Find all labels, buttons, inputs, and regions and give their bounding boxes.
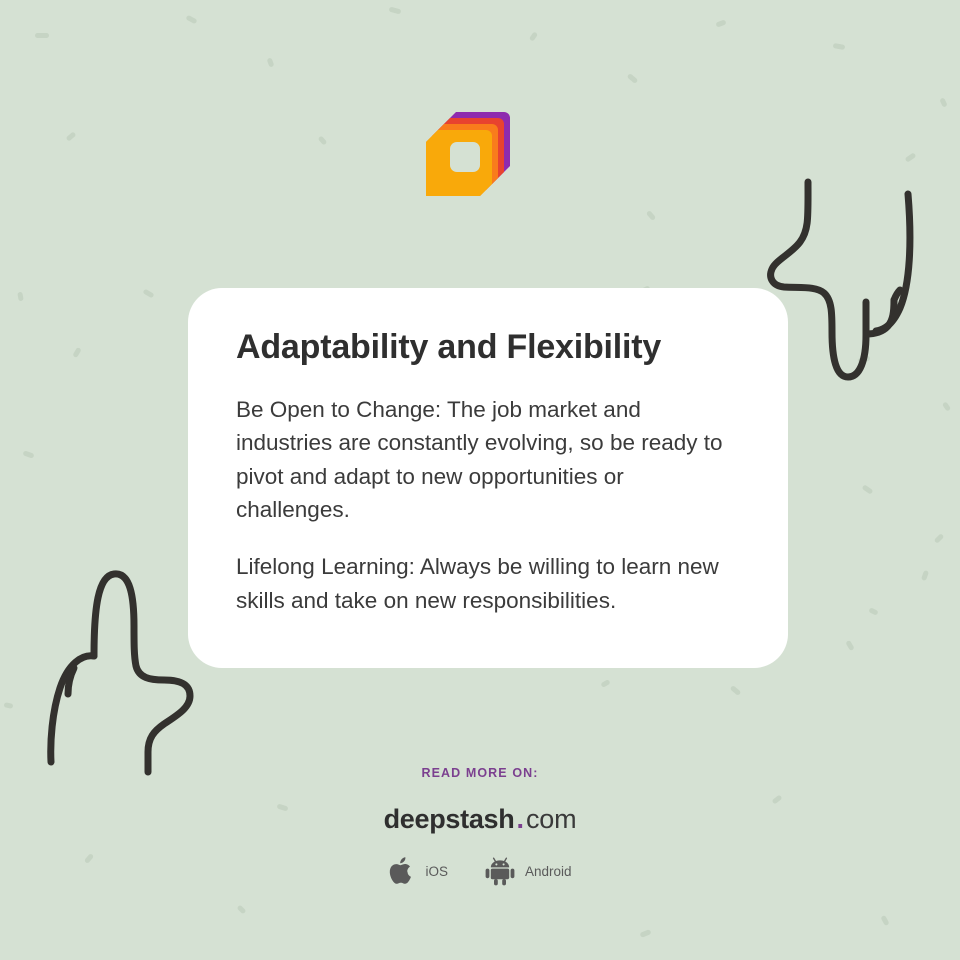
footer: READ MORE ON: deepstash.com iOS: [0, 766, 960, 887]
background-speck: [185, 15, 197, 25]
card-body: Be Open to Change: The job market and in…: [236, 393, 740, 617]
logo-inner-cutout: [450, 142, 480, 172]
android-label: Android: [525, 864, 572, 879]
card-paragraph-2: Lifelong Learning: Always be willing to …: [236, 550, 740, 617]
background-speck: [35, 33, 49, 38]
background-speck: [72, 347, 81, 358]
android-badge[interactable]: Android: [484, 855, 572, 887]
ios-label: iOS: [425, 864, 448, 879]
read-more-label: READ MORE ON:: [0, 766, 960, 780]
background-speck: [880, 915, 889, 926]
background-speck: [142, 289, 154, 299]
background-speck: [942, 401, 951, 411]
content-card: Adaptability and Flexibility Be Open to …: [188, 288, 788, 668]
background-speck: [905, 152, 917, 162]
background-speck: [318, 135, 328, 145]
background-speck: [868, 607, 878, 615]
background-speck: [4, 702, 14, 709]
background-speck: [529, 31, 538, 41]
brand-dot: .: [514, 804, 526, 834]
background-speck: [389, 7, 402, 15]
background-speck: [600, 679, 610, 688]
android-icon: [484, 855, 516, 887]
brand-wordmark[interactable]: deepstash.com: [0, 806, 960, 833]
background-speck: [921, 570, 929, 581]
background-speck: [22, 450, 34, 458]
background-speck: [627, 73, 639, 84]
background-speck: [858, 356, 871, 364]
background-speck: [934, 533, 945, 544]
poster-canvas: Adaptability and Flexibility Be Open to …: [0, 0, 960, 960]
card-paragraph-1: Be Open to Change: The job market and in…: [236, 393, 740, 526]
background-speck: [66, 131, 77, 141]
deepstash-cube-logo: [426, 100, 522, 196]
brand-tld: com: [526, 804, 576, 834]
page-title: Adaptability and Flexibility: [236, 328, 740, 367]
app-store-badges: iOS: [0, 855, 960, 887]
ios-badge[interactable]: iOS: [388, 855, 448, 887]
background-speck: [237, 905, 247, 915]
background-speck: [939, 97, 947, 107]
background-speck: [845, 640, 854, 651]
background-speck: [646, 210, 656, 221]
apple-icon: [388, 855, 416, 887]
background-speck: [17, 292, 23, 302]
brand-name: deepstash: [384, 804, 515, 834]
pointing-hand-illustration-left: [24, 556, 204, 776]
background-speck: [730, 685, 742, 696]
background-speck: [833, 43, 846, 50]
background-speck: [267, 57, 275, 67]
background-speck: [639, 929, 651, 938]
background-speck: [862, 484, 874, 494]
background-speck: [715, 19, 726, 27]
